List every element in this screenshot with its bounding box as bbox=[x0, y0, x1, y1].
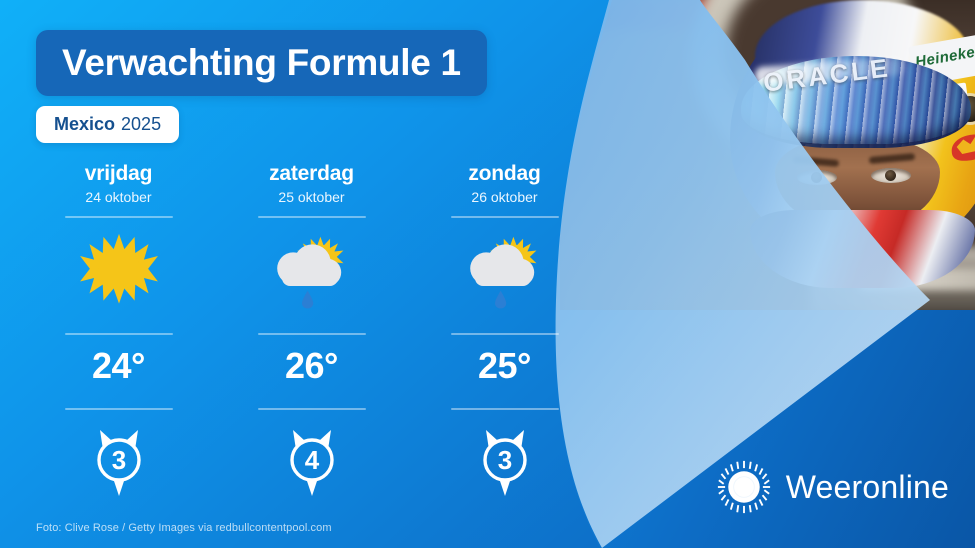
sun-icon bbox=[78, 229, 160, 311]
wind-force-value: 3 bbox=[111, 445, 125, 475]
eye-left bbox=[797, 170, 837, 185]
day-date: 26 oktober bbox=[471, 189, 537, 205]
wind-slot: 3 bbox=[474, 410, 536, 502]
day-name: vrijdag bbox=[85, 162, 152, 186]
temperature-value: 25° bbox=[478, 335, 531, 397]
temperature-value: 24° bbox=[92, 335, 145, 397]
wind-force-value: 3 bbox=[497, 445, 511, 475]
day-date: 25 oktober bbox=[278, 189, 344, 205]
forecast-day-column: vrijdag 24 oktober 24° bbox=[22, 162, 215, 502]
eyebrow-right bbox=[869, 153, 915, 164]
weather-icon-slot bbox=[215, 218, 408, 322]
raindrop-icon bbox=[495, 291, 506, 309]
wind-direction-icon: 4 bbox=[281, 424, 343, 498]
photo-credit: Foto: Clive Rose / Getty Images via redb… bbox=[36, 522, 332, 534]
raindrop-icon bbox=[302, 291, 313, 309]
wind-direction-icon: 3 bbox=[88, 424, 150, 498]
day-name: zaterdag bbox=[269, 162, 354, 186]
wind-slot: 3 bbox=[88, 410, 150, 502]
wind-slot: 4 bbox=[281, 410, 343, 502]
logo-wordmark: Weeronline bbox=[786, 469, 949, 506]
driver-helmet: Heineken RB ORACLE bbox=[715, 4, 975, 284]
location-city: Mexico bbox=[54, 114, 115, 135]
weather-icon-slot bbox=[408, 218, 601, 322]
wind-direction-icon: 3 bbox=[474, 424, 536, 498]
infographic-canvas: Heineken RB ORACLE bbox=[0, 0, 975, 548]
sun-cloud-rain-icon bbox=[459, 230, 551, 310]
eye-right bbox=[871, 168, 911, 183]
forecast-day-column: zaterdag 25 oktober bbox=[215, 162, 408, 502]
location-pill: Mexico 2025 bbox=[36, 106, 179, 143]
temperature-value: 26° bbox=[285, 335, 338, 397]
driver-photo: Heineken RB ORACLE bbox=[560, 0, 975, 310]
forecast-row: vrijdag 24 oktober 24° bbox=[22, 162, 602, 502]
forecast-day-column: zondag 26 oktober bbox=[408, 162, 601, 502]
wind-force-value: 4 bbox=[304, 445, 319, 475]
day-name: zondag bbox=[468, 162, 540, 186]
page-title: Verwachting Formule 1 bbox=[62, 42, 461, 84]
weeronline-logo: Weeronline bbox=[717, 460, 949, 514]
sun-cloud-rain-icon bbox=[266, 230, 358, 310]
weather-icon-slot bbox=[22, 218, 215, 322]
day-date: 24 oktober bbox=[85, 189, 151, 205]
location-year: 2025 bbox=[121, 114, 161, 135]
sun-logo-icon bbox=[717, 460, 771, 514]
title-banner: Verwachting Formule 1 bbox=[36, 30, 487, 96]
eyebrow-left bbox=[793, 156, 839, 167]
helmet-chin-guard bbox=[750, 210, 975, 288]
